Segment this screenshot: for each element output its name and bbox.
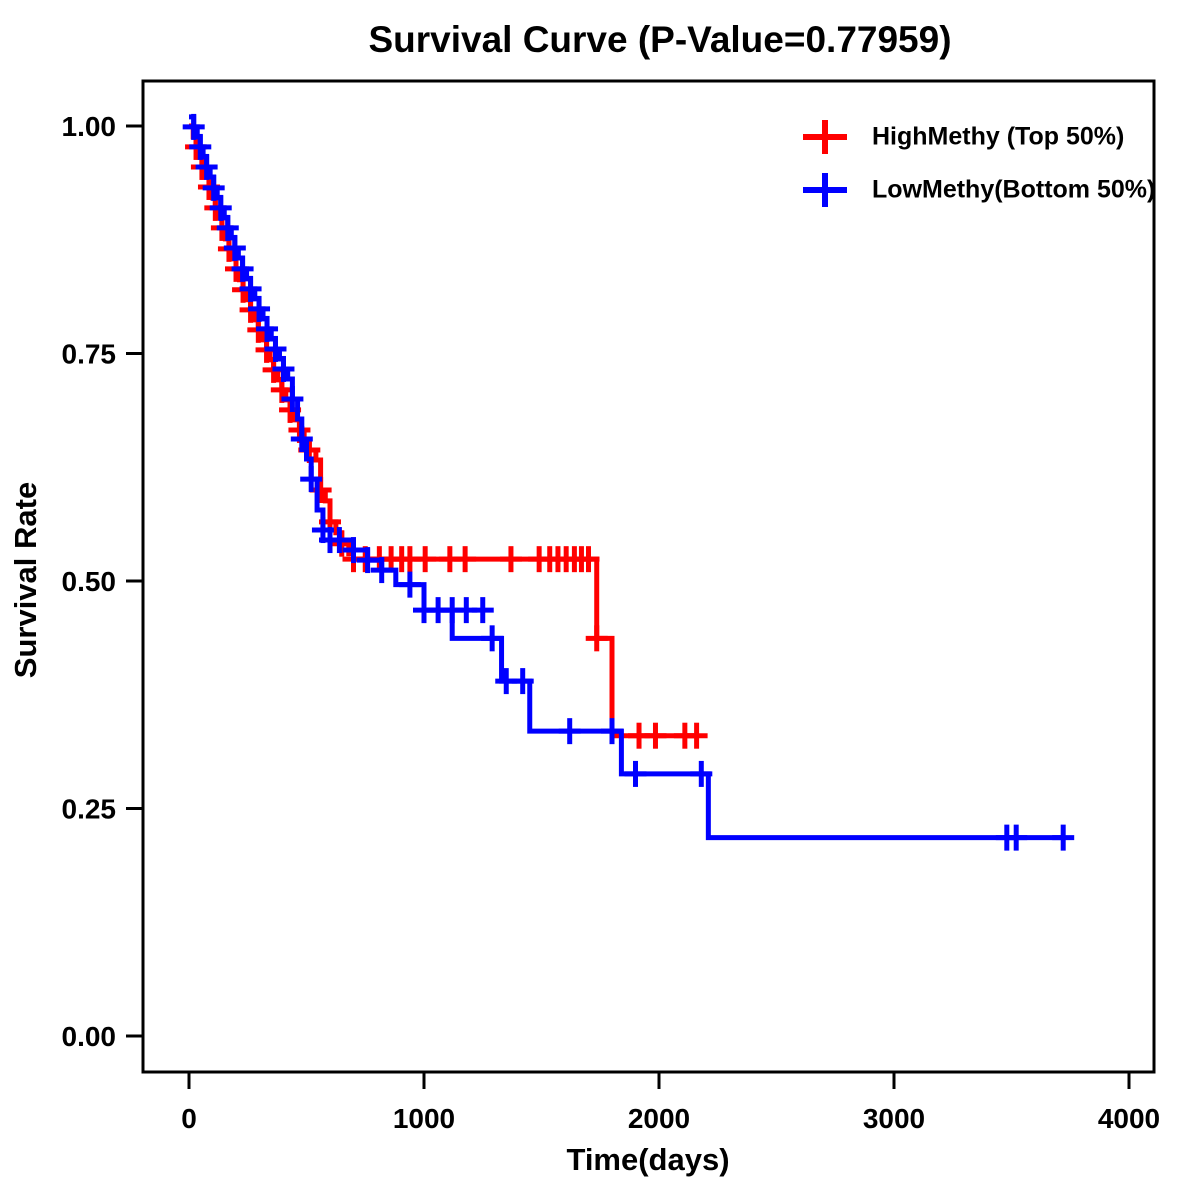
x-tick-label: 1000 (393, 1103, 455, 1134)
x-tick-label: 4000 (1098, 1103, 1160, 1134)
legend-label-0: HighMethy (Top 50%) (872, 123, 1124, 151)
page-title: Survival Curve (P-Value=0.77959) (368, 19, 951, 60)
y-tick-label: 0.25 (62, 794, 117, 825)
y-tick-label: 0.50 (62, 566, 117, 597)
legend-label-1: LowMethy(Bottom 50%) (872, 176, 1155, 204)
y-tick-label: 1.00 (62, 111, 117, 142)
x-tick-label: 2000 (628, 1103, 690, 1134)
x-axis-title: Time(days) (566, 1142, 729, 1177)
y-axis-title: Survival Rate (8, 482, 43, 678)
x-tick-label: 3000 (863, 1103, 925, 1134)
y-tick-label: 0.00 (62, 1021, 117, 1052)
y-tick-label: 0.75 (62, 339, 117, 370)
survival-curve-figure: Survival Curve (P-Value=0.77959) 0.000.2… (0, 0, 1200, 1200)
survival-curve-plot: Survival Curve (P-Value=0.77959) 0.000.2… (0, 0, 1200, 1200)
x-tick-label: 0 (181, 1103, 197, 1134)
